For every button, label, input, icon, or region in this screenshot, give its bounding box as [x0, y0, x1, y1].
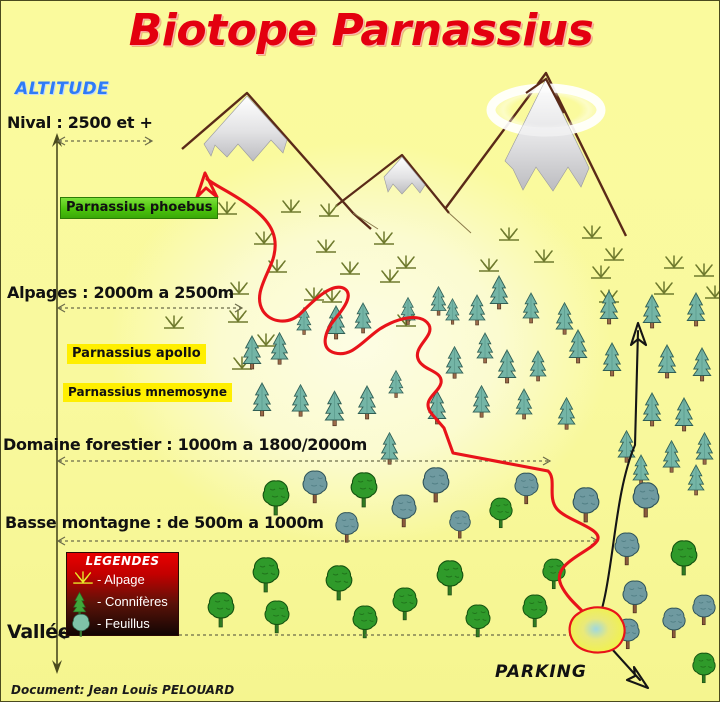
legend-item-label: - Connifères	[97, 594, 168, 609]
conifer-tree-icon	[71, 591, 95, 611]
parking-area-blob[interactable]	[570, 607, 625, 652]
species-chip-mnemosyne: Parnassius mnemosyne	[63, 383, 232, 402]
biotope-diagram-page: Biotope Parnassius ALTITUDE Nival : 2500…	[0, 0, 720, 702]
legend-item-alpage: - Alpage	[67, 568, 178, 590]
legend-box: LEGENDES - Alpage - Connifères	[66, 552, 179, 636]
zone-label-nival: Nival : 2500 et +	[7, 113, 153, 132]
legend-item-feuillus: - Feuillus	[67, 612, 178, 634]
species-chip-phoebus: Parnassius phoebus	[60, 197, 218, 219]
deciduous-tree-icon	[71, 613, 95, 633]
zone-label-vallee: Vallée	[7, 621, 71, 643]
page-title: Biotope Parnassius	[1, 5, 720, 56]
document-credit: Document: Jean Louis PELOUARD	[11, 683, 234, 697]
grass-tuft-icon	[71, 569, 95, 589]
zone-label-forestier: Domaine forestier : 1000m a 1800/2000m	[3, 435, 367, 454]
legend-item-label: - Alpage	[97, 572, 145, 587]
legend-item-label: - Feuillus	[97, 616, 150, 631]
species-chip-apollo: Parnassius apollo	[67, 344, 206, 364]
altitude-axis-label: ALTITUDE	[15, 79, 109, 99]
legend-item-coniferes: - Connifères	[67, 590, 178, 612]
parking-label: PARKING	[495, 662, 587, 682]
mountain-range	[182, 73, 626, 243]
zone-label-alpages: Alpages : 2000m a 2500m	[7, 283, 234, 302]
zone-label-basse-montagne: Basse montagne : de 500m a 1000m	[5, 513, 324, 532]
deciduous-forest-group	[208, 468, 715, 683]
legend-title: LEGENDES	[67, 554, 178, 568]
conifer-forest-group	[243, 276, 713, 495]
